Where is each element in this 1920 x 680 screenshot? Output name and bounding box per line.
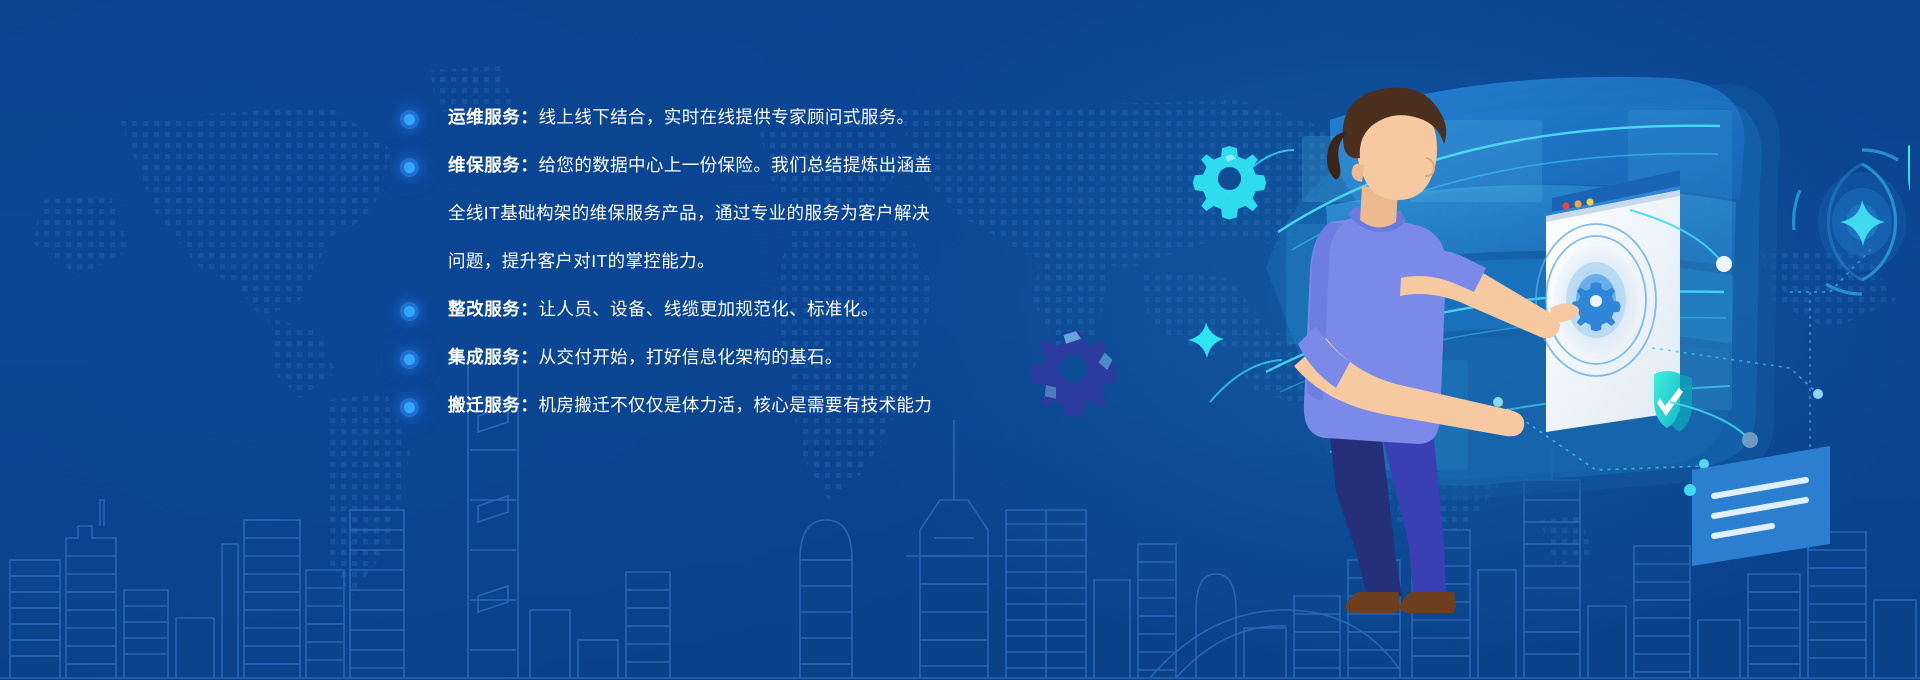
bullet-dot-icon [404,402,415,413]
list-item[interactable]: 搬迁服务：机房搬迁不仅仅是体力活，核心是需要有技术能力 [404,392,1044,418]
bullet-dot-icon [404,354,415,365]
service-separator: ： [520,395,538,415]
service-separator: ： [520,155,538,175]
curved-data-ribbons [1210,77,1780,500]
radar-rings-star [1794,150,1906,294]
bullet-dot-icon [404,162,415,173]
bullet-dot-icon [404,114,415,125]
gear-icon-cyan [1193,146,1267,220]
window-dot-amber [1574,200,1581,207]
fingerprint-gear-scan [1536,224,1656,376]
list-item-text: 整改服务：让人员、设备、线缆更加规范化、标准化。 [448,296,879,322]
person-pointing-at-screen [1294,88,1579,613]
list-item-text: 维保服务：给您的数据中心上一份保险。我们总结提炼出涵盖 [448,152,932,178]
window-dot-yellow [1586,198,1593,205]
banner-root: 运维服务：线上线下结合，实时在线提供专家顾问式服务。 维保服务：给您的数据中心上… [0,0,1920,680]
service-title: 整改服务 [448,299,520,319]
shield-check-icon-right [1908,142,1910,213]
service-body: 全线IT基础构架的维保服务产品，通过专业的服务为客户解决 [448,203,930,223]
list-item[interactable]: 整改服务：让人员、设备、线缆更加规范化、标准化。 [404,296,1044,322]
star-icon [1188,322,1224,358]
list-item[interactable]: 维保服务：给您的数据中心上一份保险。我们总结提炼出涵盖 [404,152,1044,178]
connector-dots [1493,210,1874,490]
service-separator: ： [520,347,538,367]
service-body: 线上线下结合，实时在线提供专家顾问式服务。 [539,107,915,127]
service-separator: ： [520,299,538,319]
service-title: 运维服务 [448,107,520,127]
list-item-text: 搬迁服务：机房搬迁不仅仅是体力活，核心是需要有技术能力 [448,392,932,418]
service-body: 机房搬迁不仅仅是体力活，核心是需要有技术能力 [539,395,933,415]
service-body: 给您的数据中心上一份保险。我们总结提炼出涵盖 [539,155,933,175]
service-title: 集成服务 [448,347,520,367]
list-item-continuation: 问题，提升客户对IT的掌控能力。 [448,248,1044,274]
service-body: 问题，提升客户对IT的掌控能力。 [448,251,715,271]
list-item-text: 问题，提升客户对IT的掌控能力。 [448,248,715,274]
window-dot-red [1562,202,1569,209]
list-item-text: 集成服务：从交付开始，打好信息化架构的基石。 [448,344,843,370]
list-item-text: 全线IT基础构架的维保服务产品，通过专业的服务为客户解决 [448,200,930,226]
text-lines-card [1684,446,1830,566]
list-item[interactable]: 集成服务：从交付开始，打好信息化架构的基石。 [404,344,1044,370]
main-screen-panel [1546,190,1680,432]
shield-check-icon [1654,371,1692,432]
it-service-hero-illustration [1030,0,1910,620]
list-item-text: 运维服务：线上线下结合，实时在线提供专家顾问式服务。 [448,104,914,130]
list-item[interactable]: 运维服务：线上线下结合，实时在线提供专家顾问式服务。 [404,104,1044,130]
service-list: 运维服务：线上线下结合，实时在线提供专家顾问式服务。 维保服务：给您的数据中心上… [404,104,1044,440]
service-title: 维保服务 [448,155,520,175]
list-item-continuation: 全线IT基础构架的维保服务产品，通过专业的服务为客户解决 [448,200,1044,226]
service-title: 搬迁服务 [448,395,520,415]
service-body: 让人员、设备、线缆更加规范化、标准化。 [539,299,879,319]
browser-window-card [1552,170,1680,238]
service-separator: ： [520,107,538,127]
service-body: 从交付开始，打好信息化架构的基石。 [539,347,843,367]
bullet-dot-icon [404,306,415,317]
